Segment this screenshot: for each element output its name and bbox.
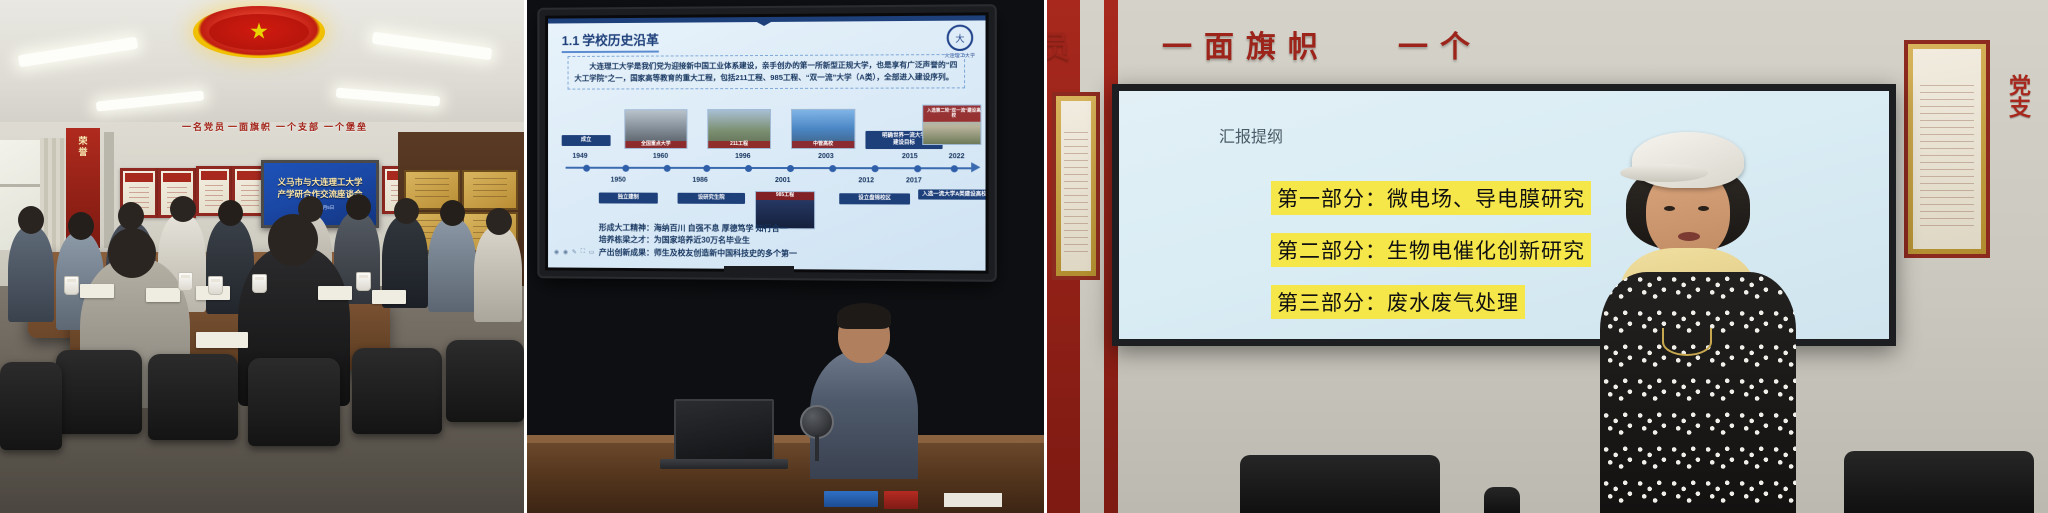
- slide-notch-icon: [748, 17, 780, 26]
- timeline-dot: [872, 165, 879, 172]
- slide-number: 1.1: [562, 33, 580, 48]
- pen-icon[interactable]: ✎: [572, 249, 577, 256]
- timeline-chip-below: 设立盘锦校区: [839, 193, 910, 204]
- attendee: [8, 226, 54, 322]
- document-sheet: [372, 290, 406, 304]
- desk-edge: [524, 435, 1044, 443]
- star-emblem-ceiling-lamp-icon: ★: [193, 6, 325, 58]
- wall-slogan-item: 一个堡垒: [324, 120, 368, 133]
- certificate-inner: [1061, 101, 1091, 271]
- timeline-photo-above: 211工程: [707, 109, 771, 149]
- office-chair: [446, 340, 524, 422]
- photo-collage: ★ 荣誉 一名党员 一面旗帜 一个支部 一个堡垒 义马市与大连理工大学 产学研合…: [0, 0, 2048, 513]
- timeline-year-above: 1949: [572, 153, 587, 160]
- timeline-year-below: 2017: [906, 177, 922, 184]
- timeline-year-below: 1986: [692, 177, 707, 184]
- wall-slogan-item: 一面旗帜: [228, 120, 272, 133]
- wall-slogan-item: 一个: [1398, 22, 1482, 66]
- conference-chair: [1484, 487, 1520, 513]
- wall-slogan-item: 一个支部: [276, 120, 320, 133]
- timeline-dot: [745, 165, 752, 172]
- microphone-icon: [800, 405, 834, 439]
- red-notebook: [884, 491, 918, 509]
- water-cup: [356, 272, 371, 291]
- slide-title: 1.1学校历史沿革: [562, 30, 659, 53]
- timeline-chip-above: 成立: [562, 135, 611, 146]
- office-chair: [248, 358, 340, 446]
- timeline-dot: [664, 165, 671, 172]
- timeline-year-above: 2022: [949, 153, 965, 160]
- slide-bottom-line: 培养栋梁之才：为国家培养近30万名毕业生: [599, 235, 797, 249]
- attendee: [428, 218, 476, 312]
- gold-framed-certificate: [1052, 92, 1100, 280]
- award-plaque: [462, 170, 518, 210]
- panel-right-presenter: 员 一面旗帜 一个 党支 汇报提纲 第一部分：微电场、导电膜研究 第二部分：生物…: [1044, 0, 2048, 513]
- timeline-photo-caption: 211工程: [708, 140, 770, 148]
- slide-title-text: 学校历史沿革: [582, 33, 659, 48]
- timeline-dot: [622, 165, 629, 172]
- attendee-head: [440, 200, 465, 226]
- timeline-year-above: 1960: [653, 153, 668, 160]
- document-sheet: [318, 286, 352, 300]
- timeline-dot: [914, 165, 921, 172]
- university-logo-icon: 大: [947, 25, 974, 51]
- timeline-chip-below: 入选一流大学A类建设高校: [918, 189, 985, 200]
- timeline-year-below: 2001: [775, 177, 791, 184]
- timeline-chip-below: 独立建制: [599, 193, 658, 204]
- conference-chair: [1844, 451, 2034, 513]
- wall-pillar: [104, 132, 114, 248]
- attendee-head: [170, 196, 196, 222]
- presenter-mouth: [1678, 232, 1700, 241]
- slide-outline-item: 第二部分：生物电催化创新研究: [1271, 233, 1591, 267]
- blue-notebook: [824, 491, 878, 507]
- gold-framed-certificate: [1904, 40, 1990, 258]
- necklace-icon: [1662, 328, 1712, 356]
- presenter-eye: [1664, 206, 1675, 211]
- wall-slogan-vertical: 党支: [2002, 74, 2034, 118]
- attendee-head: [268, 214, 318, 266]
- attendee-head: [346, 194, 371, 220]
- office-chair: [56, 350, 142, 434]
- collage-divider: [524, 0, 527, 513]
- document-sheet: [196, 332, 248, 348]
- presenter-eye: [1698, 206, 1709, 211]
- timeline-dot: [787, 165, 794, 172]
- document-sheet: [80, 284, 114, 298]
- slide-icon[interactable]: ▭: [589, 249, 595, 256]
- timeline-year-below: 2012: [858, 177, 874, 184]
- timeline-photo-caption: 中管高校: [792, 140, 854, 148]
- timeline-arrow-icon: [971, 162, 980, 172]
- attendee-head: [118, 202, 144, 230]
- slide-outline-item: 第三部分：废水废气处理: [1271, 285, 1525, 319]
- wall-slogan-item: 员: [1044, 22, 1082, 66]
- timeline-dot: [583, 165, 590, 172]
- screen-title-line-1: 义马市与大连理工大学: [277, 177, 362, 188]
- wall-slogan-item: 一名党员: [182, 120, 226, 133]
- timeline-photo-caption: 985工程: [756, 192, 814, 200]
- timeline-photo-above: 中管高校: [791, 109, 855, 149]
- water-cup: [252, 274, 267, 293]
- wall-slogan-item: 一面旗帜: [1162, 22, 1330, 66]
- slide-heading: 汇报提纲: [1219, 123, 1283, 147]
- office-chair: [352, 348, 442, 434]
- document-sheet: [944, 493, 1002, 507]
- timeline-chip-below: 设研究生院: [678, 193, 745, 204]
- attendee-head: [108, 228, 156, 278]
- slide-canvas: 大 大连理工大学 1.1学校历史沿革 大连理工大学是我们党为迎接新中国工业体系建…: [548, 15, 985, 270]
- attendee-head: [394, 198, 419, 224]
- fullscreen-icon[interactable]: ⛶: [581, 249, 585, 256]
- water-cup: [178, 272, 193, 291]
- certificate-inner: [1913, 49, 1981, 249]
- attendee-head: [18, 206, 44, 234]
- conference-chair: [1240, 455, 1440, 513]
- timeline-dot: [703, 165, 710, 172]
- timeline-photo-above: 入选第二轮“双一流”建设高校: [922, 105, 981, 146]
- water-cup: [208, 276, 223, 295]
- water-cup: [64, 276, 79, 295]
- timeline-photo-caption: 入选第二轮“双一流”建设高校: [923, 106, 981, 122]
- next-icon[interactable]: ◉: [563, 249, 568, 256]
- attendee-head: [486, 208, 512, 235]
- slide-player-controls[interactable]: ◉ ◉ ✎ ⛶ ▭: [554, 249, 594, 256]
- timeline-year-above: 2015: [902, 153, 918, 160]
- presenter-hair: [837, 303, 891, 329]
- timeline-year-below: 1950: [611, 177, 626, 184]
- slide-paragraph: 大连理工大学是我们党为迎接新中国工业体系建设，亲手创办的第一所新型正规大学，也是…: [568, 54, 966, 89]
- tv-display: 大 大连理工大学 1.1学校历史沿革 大连理工大学是我们党为迎接新中国工业体系建…: [539, 6, 994, 280]
- attendee-head: [218, 200, 243, 226]
- slide-outline-item: 第一部分：微电场、导电膜研究: [1271, 181, 1591, 215]
- document-sheet: [146, 288, 180, 302]
- timeline-year-above: 2003: [818, 153, 834, 160]
- timeline-photo-above: 全国重点大学: [624, 109, 687, 149]
- university-logo-glyph: 大: [955, 31, 964, 44]
- timeline-photo-caption: 全国重点大学: [625, 141, 686, 148]
- panel-left-meeting-room: ★ 荣誉 一名党员 一面旗帜 一个支部 一个堡垒 义马市与大连理工大学 产学研合…: [0, 0, 524, 513]
- slide-bottom-text-block: 形成大工精神：海纳百川 自强不息 厚德笃学 知行合一 培养栋梁之才：为国家培养近…: [599, 222, 797, 261]
- timeline-dot: [951, 165, 958, 172]
- timeline-year-above: 1996: [735, 153, 751, 160]
- panel-middle-slide-history: 大 大连理工大学 1.1学校历史沿革 大连理工大学是我们党为迎接新中国工业体系建…: [524, 0, 1044, 513]
- slide-bottom-line: 形成大工精神：海纳百川 自强不息 厚德笃学 知行合一: [599, 222, 797, 236]
- tv-stand: [724, 266, 794, 276]
- timeline-dot: [829, 165, 836, 172]
- slide-bottom-line: 产出创新成果：师生及校友创造新中国科技史的多个第一: [599, 247, 797, 261]
- white-cap-icon: [1632, 132, 1744, 188]
- attendee: [474, 226, 522, 322]
- attendee-head: [68, 212, 94, 240]
- prev-icon[interactable]: ◉: [554, 249, 559, 256]
- collage-divider: [1044, 0, 1047, 513]
- honor-wall-label: 荣誉: [77, 136, 90, 158]
- laptop-icon: [674, 399, 774, 461]
- office-chair: [0, 362, 62, 450]
- foreground-chairs: [1044, 441, 2048, 513]
- office-chair: [148, 354, 238, 440]
